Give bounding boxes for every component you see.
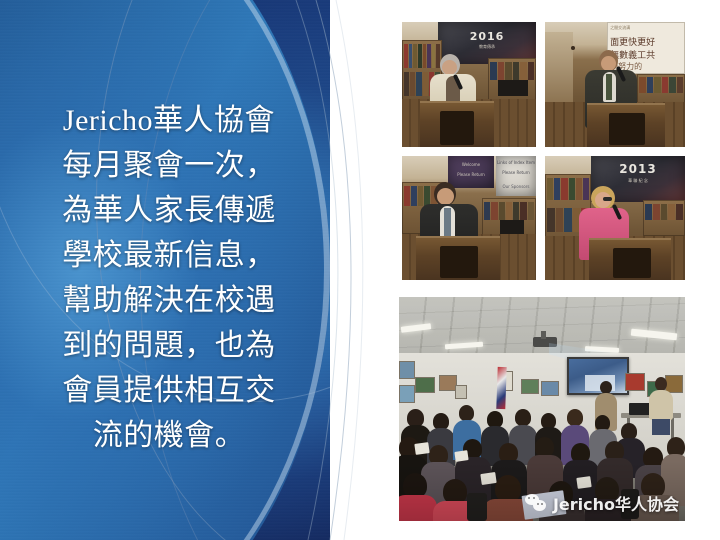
photo-podium-woman-2016: 2016 教育傳承 [402,22,536,147]
watermark-text: Jericho华人协会 [553,491,679,515]
photo-podium-man-banner: 之間交流溝 面更快更好 無數義工共 同努力的 [545,22,685,147]
wechat-icon [525,494,547,512]
photo4-screen-year: 2013 [591,162,685,176]
presentation-slide: Jericho華人協會 每月聚會一次， 為華人家長傳遞 學校最新信息， 幫助解決… [0,0,720,540]
photo3-slide-line-2b: Please Return [496,170,536,175]
photo-podium-woman-2013: 2013 華 聯 紀 念 [545,156,685,280]
photo4-screen-subtitle: 華 聯 紀 念 [591,178,685,184]
photo2-banner-line-0: 之間交流溝 [610,25,630,31]
photo1-screen-subtitle: 教育傳承 [438,44,536,50]
photo3-slide-line-0: Welcome [448,162,494,167]
slide-body-text: Jericho華人協會 每月聚會一次， 為華人家長傳遞 學校最新信息， 幫助解決… [28,98,310,458]
wechat-watermark: Jericho华人协会 [525,491,679,515]
photo3-slide-line-3: Our Sponsors [496,184,536,189]
photo-meeting-room-audience: Jericho华人协会 [399,297,685,521]
photo3-slide-line-2: Please Return [448,172,494,177]
photo-podium-man-slide: Welcome Please Return Links of Index Ite… [402,156,536,280]
photo1-screen-year: 2016 [438,30,536,43]
photo2-banner-line-1: 面更快更好 [610,35,655,48]
photo3-slide-line-1: Links of Index Item [496,160,536,165]
